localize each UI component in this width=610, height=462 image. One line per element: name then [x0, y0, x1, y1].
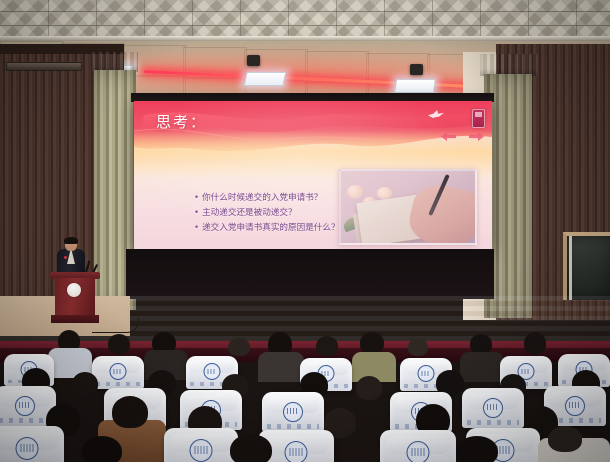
audience-head — [230, 434, 272, 462]
audience-head — [228, 338, 250, 356]
podium-emblem — [67, 283, 81, 297]
audience-head — [108, 334, 130, 354]
audience-head — [456, 436, 498, 462]
projection-booth-window — [563, 232, 610, 300]
audience-head — [82, 436, 122, 462]
audience-head — [72, 372, 98, 396]
seat — [462, 388, 524, 428]
audience-head — [470, 334, 492, 354]
audience-head — [112, 396, 148, 428]
ribbon-badge-icon — [472, 109, 485, 128]
seat — [380, 430, 456, 462]
audience-head — [360, 332, 384, 354]
acoustic-ceiling-panels — [0, 0, 610, 38]
wall-vent-grille — [6, 62, 82, 71]
seat — [164, 428, 238, 462]
auditorium-photo: 思考： 你什么时候递交的入党申请书？ 主动递交还是被动递交？ 递交入党申请书真实… — [0, 0, 610, 462]
audience-head — [316, 336, 338, 356]
slide-title: 思考： — [156, 111, 207, 132]
seat — [0, 426, 64, 462]
seat — [92, 356, 144, 389]
projector-box — [247, 55, 260, 66]
audience-area — [0, 330, 610, 462]
audience-head — [340, 438, 380, 462]
audience-head — [356, 376, 382, 400]
ceiling-panel-light — [394, 79, 436, 93]
presentation-screen: 思考： 你什么时候递交的入党申请书？ 主动递交还是被动递交？ 递交入党申请书真实… — [134, 101, 492, 249]
projector-box — [410, 64, 423, 75]
slide-photo — [339, 169, 477, 245]
audience-head — [548, 426, 582, 452]
curtain-valance-right — [480, 54, 538, 76]
curtain-valance-left — [92, 52, 138, 72]
seat — [262, 392, 324, 432]
ceiling-panel-light — [244, 72, 287, 86]
podium — [54, 272, 96, 324]
audience-head — [524, 332, 546, 354]
audience-torso — [258, 352, 304, 382]
audience-head — [408, 338, 428, 356]
stage-backdrop — [126, 249, 494, 299]
audience-torso — [460, 352, 504, 382]
